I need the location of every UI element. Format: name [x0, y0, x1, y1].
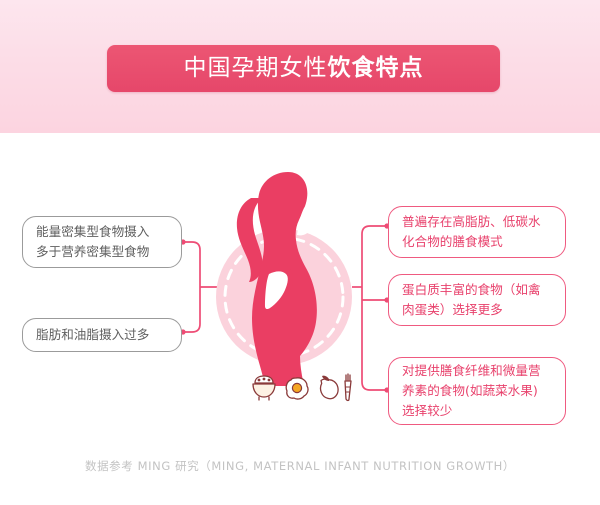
box-line: 养素的食物(如蔬菜水果) [402, 381, 552, 401]
energy-dense-food-box[interactable]: 能量密集型食物摄入 多于营养密集型食物 [22, 216, 182, 268]
fiber-micronutrient-box[interactable]: 对提供膳食纤维和微量营 养素的食物(如蔬菜水果) 选择较少 [388, 357, 566, 425]
pregnant-woman-silhouette-icon [196, 150, 376, 410]
page-title: 中国孕期女性饮食特点 [184, 57, 424, 80]
page-title-normal: 中国孕期女性 [184, 55, 328, 81]
title-banner: 中国孕期女性饮食特点 [107, 45, 500, 92]
box-line: 对提供膳食纤维和微量营 [402, 361, 552, 381]
central-illustration [196, 150, 376, 410]
fried-egg-icon [286, 378, 308, 399]
box-line: 能量密集型食物摄入 [36, 222, 168, 242]
box-line: 化合物的膳食模式 [402, 232, 552, 252]
fat-oil-intake-box[interactable]: 脂肪和油脂摄入过多 [22, 318, 182, 352]
box-line: 蛋白质丰富的食物（如禽 [402, 280, 552, 300]
infographic-page: 中国孕期女性饮食特点 [0, 0, 600, 505]
rice-bowl-icon [253, 376, 275, 400]
box-line: 普遍存在高脂肪、低碳水 [402, 212, 552, 232]
box-line: 多于营养密集型食物 [36, 242, 168, 262]
eggplant-carrot-icon [319, 374, 351, 401]
high-fat-low-carb-box[interactable]: 普遍存在高脂肪、低碳水 化合物的膳食模式 [388, 206, 566, 258]
box-line: 肉蛋类）选择更多 [402, 300, 552, 320]
protein-rich-food-box[interactable]: 蛋白质丰富的食物（如禽 肉蛋类）选择更多 [388, 274, 566, 326]
footer: 数据参考 MING 研究（MING, MATERNAL INFANT NUTRI… [0, 455, 600, 474]
page-title-bold: 饮食特点 [328, 55, 424, 81]
box-line: 脂肪和油脂摄入过多 [36, 325, 168, 345]
header-band: 中国孕期女性饮食特点 [0, 0, 600, 133]
box-line: 选择较少 [402, 401, 552, 421]
data-source-note: 数据参考 MING 研究（MING, MATERNAL INFANT NUTRI… [85, 459, 515, 473]
